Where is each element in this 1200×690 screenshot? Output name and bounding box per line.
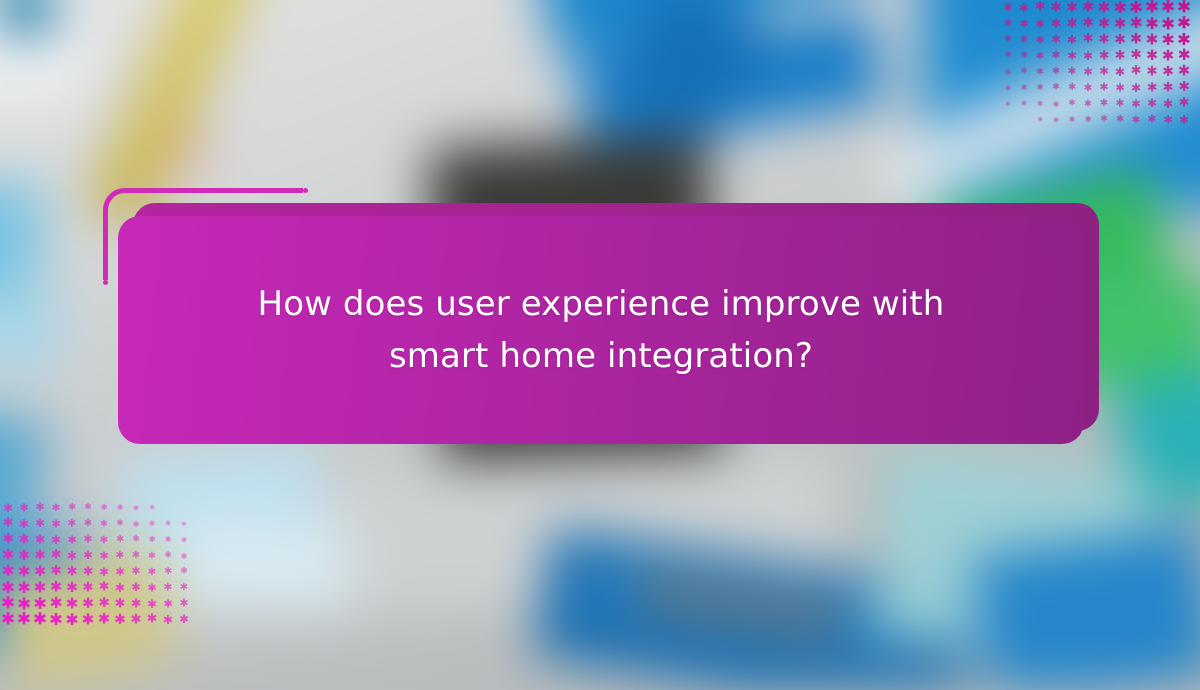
background-shape-paper-bl-2 xyxy=(177,514,353,616)
quote-card-group: How does user experience improve with sm… xyxy=(103,188,1103,444)
card-front-layer: How does user experience improve with sm… xyxy=(118,216,1084,444)
headline-text: How does user experience improve with sm… xyxy=(251,278,951,382)
background-shape-blue-left-2 xyxy=(0,287,63,373)
